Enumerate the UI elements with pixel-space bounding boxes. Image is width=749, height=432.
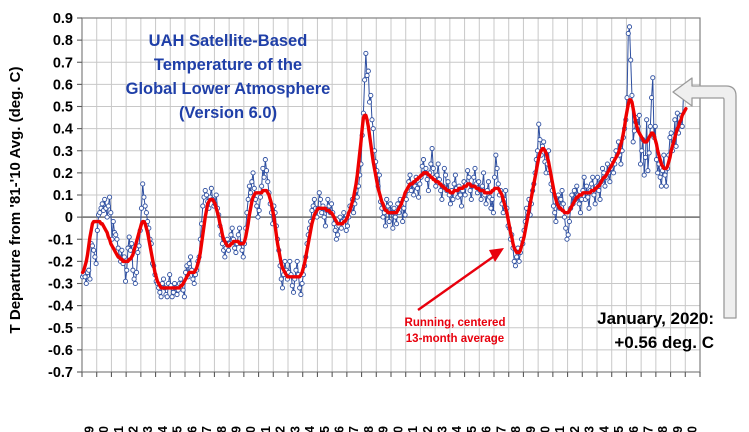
monthly-data-point xyxy=(318,197,322,201)
monthly-data-point xyxy=(648,124,652,128)
monthly-data-point xyxy=(512,259,516,263)
monthly-data-point xyxy=(567,219,571,223)
monthly-data-point xyxy=(562,215,566,219)
latest-value-line-2: +0.56 deg. C xyxy=(614,333,714,352)
y-tick-label: 0.7 xyxy=(53,55,73,71)
monthly-data-point xyxy=(95,228,99,232)
x-tick-label: 1996 xyxy=(333,426,347,432)
monthly-data-point xyxy=(342,211,346,215)
chart-background xyxy=(0,0,749,432)
monthly-data-point xyxy=(452,182,456,186)
x-tick-label: 1981 xyxy=(112,426,126,432)
monthly-data-point xyxy=(322,215,326,219)
monthly-data-point xyxy=(240,248,244,252)
monthly-data-point xyxy=(640,149,644,153)
monthly-data-point xyxy=(409,188,413,192)
monthly-data-point xyxy=(429,162,433,166)
x-tick-label: 1989 xyxy=(230,426,244,432)
monthly-data-point xyxy=(159,295,163,299)
y-tick-label: 0.1 xyxy=(53,188,73,204)
monthly-data-point xyxy=(577,202,581,206)
monthly-data-point xyxy=(143,204,147,208)
monthly-data-point xyxy=(642,173,646,177)
monthly-data-point xyxy=(425,177,429,181)
monthly-data-point xyxy=(312,197,316,201)
monthly-data-point xyxy=(494,153,498,157)
x-tick-label: 1994 xyxy=(303,426,317,432)
monthly-data-point xyxy=(128,248,132,252)
monthly-data-point xyxy=(339,226,343,230)
monthly-data-point xyxy=(377,173,381,177)
x-tick-label: 2020 xyxy=(686,426,700,432)
monthly-data-point xyxy=(294,268,298,272)
monthly-data-point xyxy=(424,166,428,170)
monthly-data-point xyxy=(401,219,405,223)
monthly-data-point xyxy=(668,135,672,139)
monthly-data-point xyxy=(260,184,264,188)
monthly-data-point xyxy=(92,248,96,252)
x-tick-label: 1993 xyxy=(288,426,302,432)
monthly-data-point xyxy=(383,224,387,228)
monthly-data-point xyxy=(513,264,517,268)
monthly-data-point xyxy=(517,259,521,263)
x-tick-label: 1991 xyxy=(259,426,273,432)
monthly-data-point xyxy=(263,158,267,162)
monthly-data-point xyxy=(370,118,374,122)
monthly-data-point xyxy=(255,204,259,208)
monthly-data-point xyxy=(570,193,574,197)
monthly-data-point xyxy=(179,277,183,281)
monthly-data-point xyxy=(295,259,299,263)
monthly-data-point xyxy=(391,226,395,230)
monthly-data-point xyxy=(320,211,324,215)
monthly-data-point xyxy=(637,113,641,117)
monthly-data-point xyxy=(443,173,447,177)
monthly-data-point xyxy=(298,286,302,290)
x-tick-label: 2006 xyxy=(480,426,494,432)
monthly-data-point xyxy=(262,175,266,179)
x-tick-label: 1988 xyxy=(215,426,229,432)
monthly-data-point xyxy=(344,228,348,232)
monthly-data-point xyxy=(582,175,586,179)
x-tick-label: 1990 xyxy=(244,426,258,432)
monthly-data-point xyxy=(416,195,420,199)
monthly-data-point xyxy=(448,202,452,206)
monthly-data-point xyxy=(393,215,397,219)
monthly-data-point xyxy=(387,219,391,223)
monthly-data-point xyxy=(593,202,597,206)
monthly-data-point xyxy=(241,255,245,259)
monthly-data-point xyxy=(493,175,497,179)
latest-value-line-1: January, 2020: xyxy=(597,309,714,328)
monthly-data-point xyxy=(90,244,94,248)
monthly-data-point xyxy=(654,158,658,162)
monthly-data-point xyxy=(466,169,470,173)
monthly-data-point xyxy=(560,188,564,192)
monthly-data-point xyxy=(496,182,500,186)
x-tick-label: 1998 xyxy=(362,426,376,432)
monthly-data-point xyxy=(283,259,287,263)
x-tick-label: 1983 xyxy=(141,426,155,432)
monthly-data-point xyxy=(680,124,684,128)
monthly-data-point xyxy=(674,144,678,148)
running-average-label-line-2: 13-month average xyxy=(406,333,504,345)
x-tick-label: 1979 xyxy=(82,426,96,432)
monthly-data-point xyxy=(649,96,653,100)
monthly-data-point xyxy=(440,197,444,201)
monthly-data-point xyxy=(209,186,213,190)
monthly-data-point xyxy=(653,124,657,128)
monthly-data-point xyxy=(486,180,490,184)
monthly-data-point xyxy=(93,255,97,259)
y-tick-label: -0.6 xyxy=(48,343,73,359)
monthly-data-point xyxy=(643,155,647,159)
monthly-data-point xyxy=(480,184,484,188)
monthly-data-point xyxy=(436,162,440,166)
monthly-data-point xyxy=(329,202,333,206)
monthly-data-point xyxy=(442,166,446,170)
monthly-data-point xyxy=(659,184,663,188)
monthly-data-point xyxy=(252,186,256,190)
monthly-data-point xyxy=(279,277,283,281)
y-tick-label: -0.4 xyxy=(48,299,73,315)
monthly-data-point xyxy=(584,184,588,188)
chart-container: T Departure from '81-'10 Avg. (deg. C) 0… xyxy=(0,0,749,432)
monthly-data-point xyxy=(515,255,519,259)
monthly-data-point xyxy=(434,184,438,188)
chart-title-line-2: Temperature of the xyxy=(154,56,302,74)
x-tick-label: 2007 xyxy=(494,426,508,432)
monthly-data-point xyxy=(88,277,92,281)
monthly-data-point xyxy=(575,184,579,188)
monthly-data-point xyxy=(421,158,425,162)
monthly-data-point xyxy=(256,215,260,219)
monthly-data-point xyxy=(403,213,407,217)
x-tick-label: 1984 xyxy=(156,426,170,432)
monthly-data-point xyxy=(473,166,477,170)
monthly-data-point xyxy=(246,197,250,201)
monthly-data-point xyxy=(333,228,337,232)
monthly-data-point xyxy=(103,197,107,201)
monthly-data-point xyxy=(214,193,218,197)
monthly-data-point xyxy=(418,182,422,186)
monthly-data-point xyxy=(168,273,172,277)
monthly-data-point xyxy=(463,193,467,197)
monthly-data-point xyxy=(134,270,138,274)
monthly-data-point xyxy=(559,197,563,201)
x-tick-label: 2010 xyxy=(539,426,553,432)
monthly-data-point xyxy=(392,206,396,210)
monthly-data-point xyxy=(172,281,176,285)
monthly-data-point xyxy=(631,140,635,144)
monthly-data-point xyxy=(619,162,623,166)
monthly-data-point xyxy=(201,204,205,208)
monthly-data-point xyxy=(223,255,227,259)
monthly-data-point xyxy=(299,292,303,296)
x-tick-label: 1987 xyxy=(200,426,214,432)
monthly-data-point xyxy=(251,171,255,175)
monthly-data-point xyxy=(459,204,463,208)
monthly-data-point xyxy=(490,197,494,201)
monthly-data-point xyxy=(646,169,650,173)
x-tick-label: 2015 xyxy=(612,426,626,432)
monthly-data-point xyxy=(608,180,612,184)
monthly-data-point xyxy=(477,180,481,184)
y-tick-label: -0.2 xyxy=(48,254,73,270)
monthly-data-point xyxy=(229,233,233,237)
monthly-data-point xyxy=(352,211,356,215)
monthly-data-point xyxy=(170,295,174,299)
monthly-data-point xyxy=(645,118,649,122)
monthly-data-point xyxy=(435,173,439,177)
x-axis-ticks: 1979198019811982198319841985198619871988… xyxy=(82,426,699,432)
y-tick-label: -0.1 xyxy=(48,232,73,248)
monthly-data-point xyxy=(290,284,294,288)
x-tick-label: 2000 xyxy=(391,426,405,432)
monthly-data-point xyxy=(363,78,367,82)
monthly-data-point xyxy=(431,166,435,170)
y-tick-label: 0.8 xyxy=(53,33,73,49)
monthly-data-point xyxy=(336,233,340,237)
monthly-data-point xyxy=(385,197,389,201)
monthly-data-point xyxy=(226,248,230,252)
monthly-data-point xyxy=(629,58,633,62)
monthly-data-point xyxy=(638,162,642,166)
x-tick-label: 2009 xyxy=(524,426,538,432)
y-tick-label: -0.5 xyxy=(48,321,73,337)
monthly-data-point xyxy=(182,295,186,299)
y-axis-title: T Departure from '81-'10 Avg. (deg. C) xyxy=(7,67,24,334)
y-tick-label: 0.5 xyxy=(53,100,73,116)
monthly-data-point xyxy=(191,277,195,281)
monthly-data-point xyxy=(561,202,565,206)
chart-title-line-3: Global Lower Atmosphere xyxy=(126,80,331,98)
x-tick-label: 2013 xyxy=(583,426,597,432)
x-tick-label: 2011 xyxy=(553,426,567,432)
monthly-data-point xyxy=(105,215,109,219)
monthly-data-point xyxy=(468,188,472,192)
monthly-data-point xyxy=(598,197,602,201)
monthly-data-point xyxy=(611,171,615,175)
monthly-data-point xyxy=(591,175,595,179)
x-tick-label: 1982 xyxy=(127,426,141,432)
monthly-data-point xyxy=(257,208,261,212)
monthly-data-point xyxy=(300,281,304,285)
x-tick-label: 2001 xyxy=(406,426,420,432)
monthly-data-point xyxy=(587,206,591,210)
x-tick-label: 2014 xyxy=(597,426,611,432)
y-tick-label: -0.3 xyxy=(48,277,73,293)
monthly-data-point xyxy=(181,288,185,292)
y-tick-label: 0.4 xyxy=(53,122,73,138)
monthly-data-point xyxy=(658,175,662,179)
monthly-data-point xyxy=(592,193,596,197)
x-tick-label: 1999 xyxy=(377,426,391,432)
monthly-data-point xyxy=(501,211,505,215)
monthly-data-point xyxy=(371,127,375,131)
monthly-data-point xyxy=(84,281,88,285)
monthly-data-point xyxy=(132,277,136,281)
monthly-data-point xyxy=(355,195,359,199)
monthly-data-point xyxy=(137,244,141,248)
monthly-data-point xyxy=(364,51,368,55)
monthly-data-point xyxy=(188,255,192,259)
monthly-data-point xyxy=(656,171,660,175)
monthly-data-point xyxy=(472,175,476,179)
x-tick-label: 2012 xyxy=(568,426,582,432)
monthly-data-point xyxy=(662,153,666,157)
x-tick-label: 2003 xyxy=(436,426,450,432)
monthly-data-point xyxy=(161,277,165,281)
monthly-data-point xyxy=(651,76,655,80)
x-tick-label: 2018 xyxy=(656,426,670,432)
monthly-data-point xyxy=(87,268,91,272)
monthly-data-point xyxy=(408,173,412,177)
monthly-data-point xyxy=(554,219,558,223)
monthly-data-point xyxy=(669,131,673,135)
monthly-data-point xyxy=(165,295,169,299)
monthly-data-point xyxy=(664,184,668,188)
monthly-data-point xyxy=(345,224,349,228)
x-tick-label: 2019 xyxy=(671,426,685,432)
monthly-data-point xyxy=(203,188,207,192)
y-axis-title-text: T Departure from '81-'10 Avg. (deg. C) xyxy=(7,67,24,334)
monthly-data-point xyxy=(280,286,284,290)
monthly-data-point xyxy=(415,186,419,190)
monthly-data-point xyxy=(426,188,430,192)
monthly-data-point xyxy=(136,250,140,254)
monthly-data-point xyxy=(237,226,241,230)
monthly-data-point xyxy=(326,197,330,201)
monthly-data-point xyxy=(596,175,600,179)
monthly-data-point xyxy=(109,211,113,215)
monthly-data-point xyxy=(603,184,607,188)
x-tick-label: 1986 xyxy=(185,426,199,432)
x-tick-label: 2005 xyxy=(465,426,479,432)
monthly-data-point xyxy=(489,206,493,210)
monthly-data-point xyxy=(264,169,268,173)
monthly-data-point xyxy=(491,211,495,215)
monthly-data-point xyxy=(133,281,137,285)
monthly-data-point xyxy=(647,151,651,155)
monthly-data-point xyxy=(504,188,508,192)
monthly-data-point xyxy=(673,118,677,122)
monthly-data-point xyxy=(144,211,148,215)
monthly-data-point xyxy=(600,166,604,170)
monthly-data-point xyxy=(446,180,450,184)
monthly-data-point xyxy=(334,237,338,241)
monthly-data-point xyxy=(626,31,630,35)
x-tick-label: 2008 xyxy=(509,426,523,432)
monthly-data-point xyxy=(323,224,327,228)
monthly-data-point xyxy=(537,122,541,126)
monthly-data-point xyxy=(175,292,179,296)
monthly-data-point xyxy=(233,246,237,250)
monthly-data-point xyxy=(469,197,473,201)
y-tick-label: 0 xyxy=(65,210,73,226)
monthly-data-point xyxy=(106,204,110,208)
monthly-data-point xyxy=(130,242,134,246)
monthly-data-point xyxy=(484,202,488,206)
monthly-data-point xyxy=(83,275,87,279)
monthly-data-point xyxy=(94,261,98,265)
monthly-data-point xyxy=(247,184,251,188)
monthly-data-point xyxy=(565,237,569,241)
monthly-data-point xyxy=(142,195,146,199)
x-tick-label: 1992 xyxy=(274,426,288,432)
monthly-data-point xyxy=(114,233,118,237)
y-tick-label: 0.2 xyxy=(53,166,73,182)
monthly-data-point xyxy=(627,25,631,29)
x-tick-label: 2002 xyxy=(421,426,435,432)
monthly-data-point xyxy=(586,195,590,199)
running-average-label-line-1: Running, centered xyxy=(405,317,506,329)
monthly-data-point xyxy=(632,129,636,133)
monthly-data-point xyxy=(481,171,485,175)
monthly-data-point xyxy=(564,226,568,230)
x-tick-label: 2016 xyxy=(627,426,641,432)
monthly-data-point xyxy=(430,146,434,150)
monthly-data-point xyxy=(234,250,238,254)
monthly-data-point xyxy=(187,261,191,265)
monthly-data-point xyxy=(141,182,145,186)
monthly-data-point xyxy=(291,290,295,294)
monthly-data-point xyxy=(388,202,392,206)
monthly-data-point xyxy=(589,182,593,186)
monthly-data-point xyxy=(467,175,471,179)
monthly-data-point xyxy=(553,211,557,215)
x-tick-label: 1985 xyxy=(171,426,185,432)
monthly-data-point xyxy=(230,226,234,230)
y-tick-label: -0.7 xyxy=(48,365,73,381)
x-tick-label: 1997 xyxy=(347,426,361,432)
monthly-data-point xyxy=(439,188,443,192)
monthly-data-point xyxy=(367,100,371,104)
x-tick-label: 2017 xyxy=(642,426,656,432)
monthly-data-point xyxy=(123,279,127,283)
x-tick-label: 2004 xyxy=(450,426,464,432)
monthly-data-point xyxy=(451,197,455,201)
monthly-data-point xyxy=(125,268,129,272)
monthly-data-point xyxy=(107,195,111,199)
monthly-data-point xyxy=(249,191,253,195)
monthly-data-point xyxy=(127,235,131,239)
monthly-data-point xyxy=(394,222,398,226)
monthly-data-point xyxy=(365,73,369,77)
monthly-data-point xyxy=(317,191,321,195)
monthly-data-point xyxy=(236,233,240,237)
monthly-data-point xyxy=(192,281,196,285)
monthly-data-point xyxy=(578,211,582,215)
monthly-data-point xyxy=(288,259,292,263)
monthly-data-point xyxy=(258,195,262,199)
monthly-data-point xyxy=(556,193,560,197)
monthly-data-point xyxy=(115,237,119,241)
monthly-data-point xyxy=(158,290,162,294)
monthly-data-point xyxy=(369,93,373,97)
chart-title-line-4: (Version 6.0) xyxy=(179,104,277,122)
chart-title-line-1: UAH Satellite-Based xyxy=(149,32,308,50)
x-tick-label: 1995 xyxy=(318,426,332,432)
y-tick-label: 0.6 xyxy=(53,77,73,93)
monthly-data-point xyxy=(111,219,115,223)
monthly-data-point xyxy=(338,215,342,219)
monthly-data-point xyxy=(479,197,483,201)
monthly-data-point xyxy=(542,140,546,144)
y-tick-label: 0.9 xyxy=(53,11,73,27)
monthly-data-point xyxy=(453,173,457,177)
monthly-data-point xyxy=(605,162,609,166)
